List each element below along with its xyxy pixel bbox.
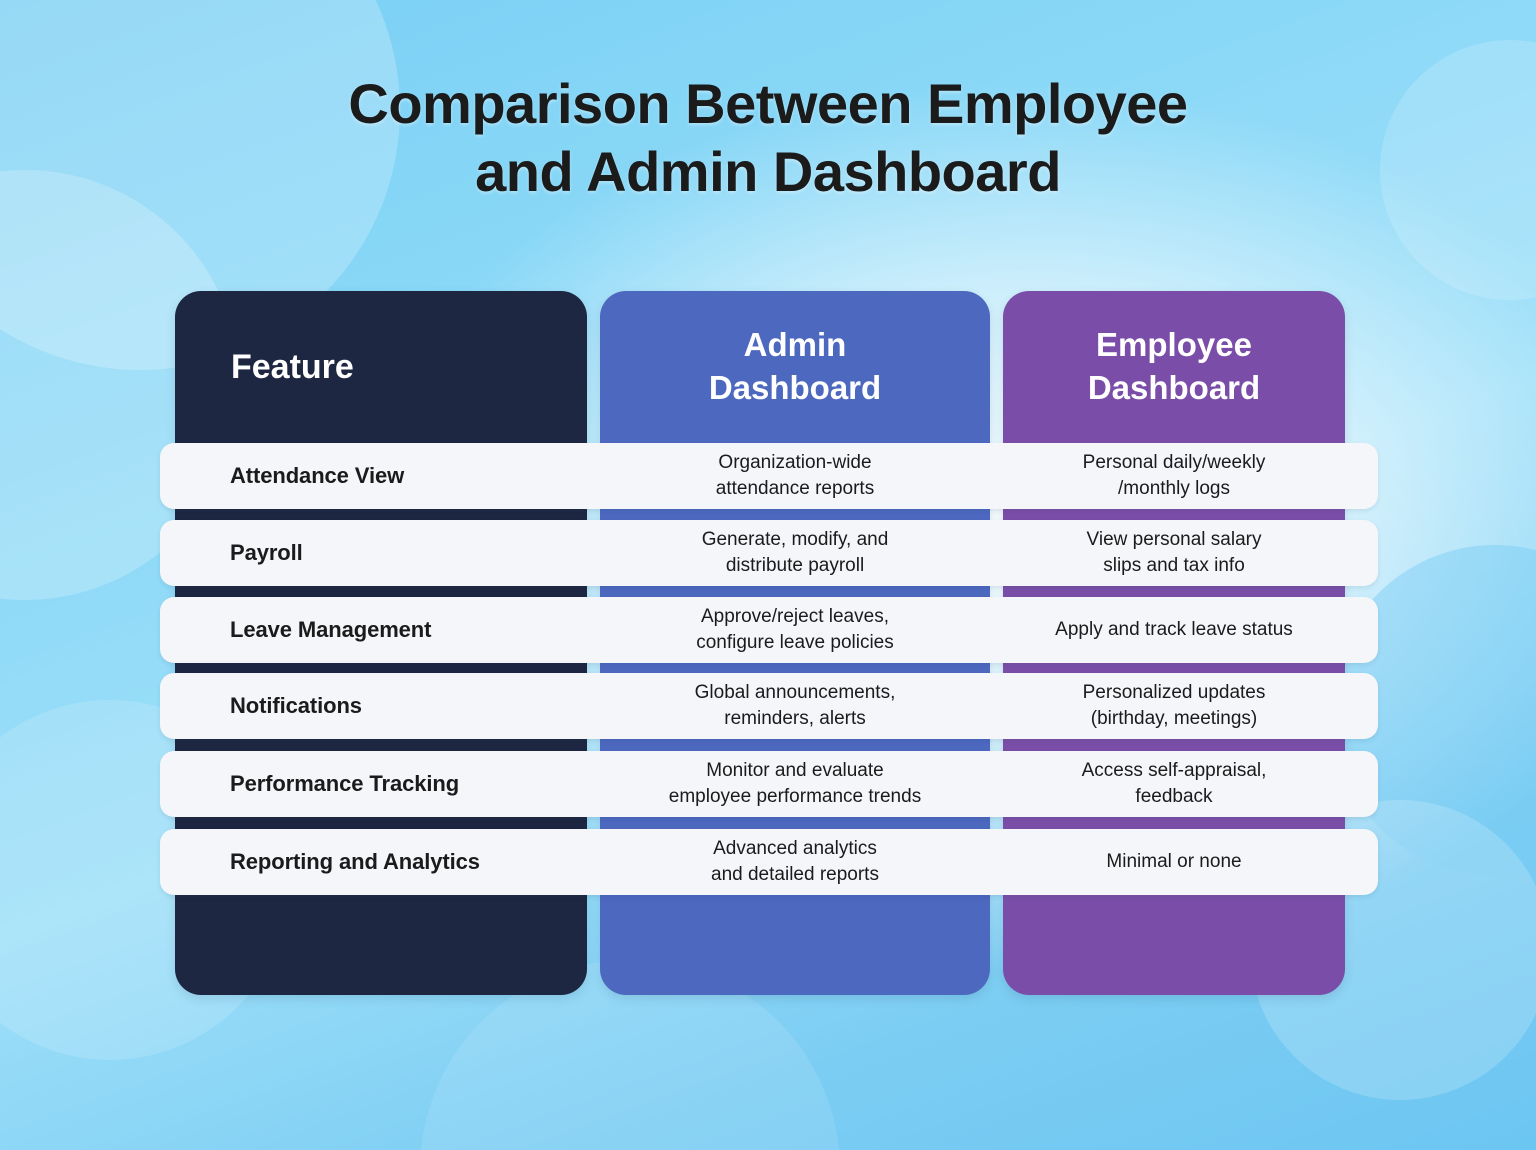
row-admin-value: Organization-wide attendance reports <box>600 443 990 509</box>
table-row: Performance Tracking Monitor and evaluat… <box>160 751 1378 817</box>
column-header-admin-label: Admin Dashboard <box>709 324 881 410</box>
infographic-canvas: Comparison Between Employee and Admin Da… <box>0 0 1536 1150</box>
row-employee-value: View personal salary slips and tax info <box>1003 520 1345 586</box>
cell-text: Apply and track leave status <box>1055 617 1293 643</box>
row-feature-label: Leave Management <box>230 597 630 663</box>
row-feature-label: Notifications <box>230 673 630 739</box>
table-row: Payroll Generate, modify, and distribute… <box>160 520 1378 586</box>
table-row: Reporting and Analytics Advanced analyti… <box>160 829 1378 895</box>
column-header-employee-label: Employee Dashboard <box>1088 324 1260 410</box>
cell-text: Reporting and Analytics <box>230 849 480 875</box>
cell-text: Global announcements, reminders, alerts <box>695 680 896 731</box>
cell-text: Advanced analytics and detailed reports <box>711 836 879 887</box>
cell-text: Personal daily/weekly /monthly logs <box>1083 450 1266 501</box>
table-row: Attendance View Organization-wide attend… <box>160 443 1378 509</box>
row-admin-value: Monitor and evaluate employee performanc… <box>600 751 990 817</box>
row-employee-value: Access self-appraisal, feedback <box>1003 751 1345 817</box>
cell-text: View personal salary slips and tax info <box>1087 527 1262 578</box>
table-row: Leave Management Approve/reject leaves, … <box>160 597 1378 663</box>
row-employee-value: Personal daily/weekly /monthly logs <box>1003 443 1345 509</box>
row-employee-value: Apply and track leave status <box>1003 597 1345 663</box>
cell-text: Approve/reject leaves, configure leave p… <box>696 604 894 655</box>
comparison-table: Feature Admin Dashboard Employee Dashboa… <box>0 0 1536 1150</box>
cell-text: Leave Management <box>230 617 431 643</box>
row-admin-value: Generate, modify, and distribute payroll <box>600 520 990 586</box>
cell-text: Monitor and evaluate employee performanc… <box>669 758 921 809</box>
table-row: Notifications Global announcements, remi… <box>160 673 1378 739</box>
cell-text: Organization-wide attendance reports <box>716 450 874 501</box>
column-header-admin: Admin Dashboard <box>600 291 990 443</box>
cell-text: Payroll <box>230 540 303 566</box>
cell-text: Performance Tracking <box>230 771 459 797</box>
cell-text: Personalized updates (birthday, meetings… <box>1083 680 1266 731</box>
row-feature-label: Performance Tracking <box>230 751 630 817</box>
row-feature-label: Reporting and Analytics <box>230 829 630 895</box>
column-header-employee: Employee Dashboard <box>1003 291 1345 443</box>
cell-text: Generate, modify, and distribute payroll <box>702 527 889 578</box>
row-employee-value: Personalized updates (birthday, meetings… <box>1003 673 1345 739</box>
row-admin-value: Advanced analytics and detailed reports <box>600 829 990 895</box>
row-feature-label: Attendance View <box>230 443 630 509</box>
cell-text: Access self-appraisal, feedback <box>1082 758 1267 809</box>
row-admin-value: Global announcements, reminders, alerts <box>600 673 990 739</box>
row-employee-value: Minimal or none <box>1003 829 1345 895</box>
row-admin-value: Approve/reject leaves, configure leave p… <box>600 597 990 663</box>
cell-text: Minimal or none <box>1106 849 1241 875</box>
cell-text: Attendance View <box>230 463 404 489</box>
column-header-feature-label: Feature <box>231 345 354 389</box>
row-feature-label: Payroll <box>230 520 630 586</box>
cell-text: Notifications <box>230 693 362 719</box>
column-header-feature: Feature <box>175 291 587 443</box>
